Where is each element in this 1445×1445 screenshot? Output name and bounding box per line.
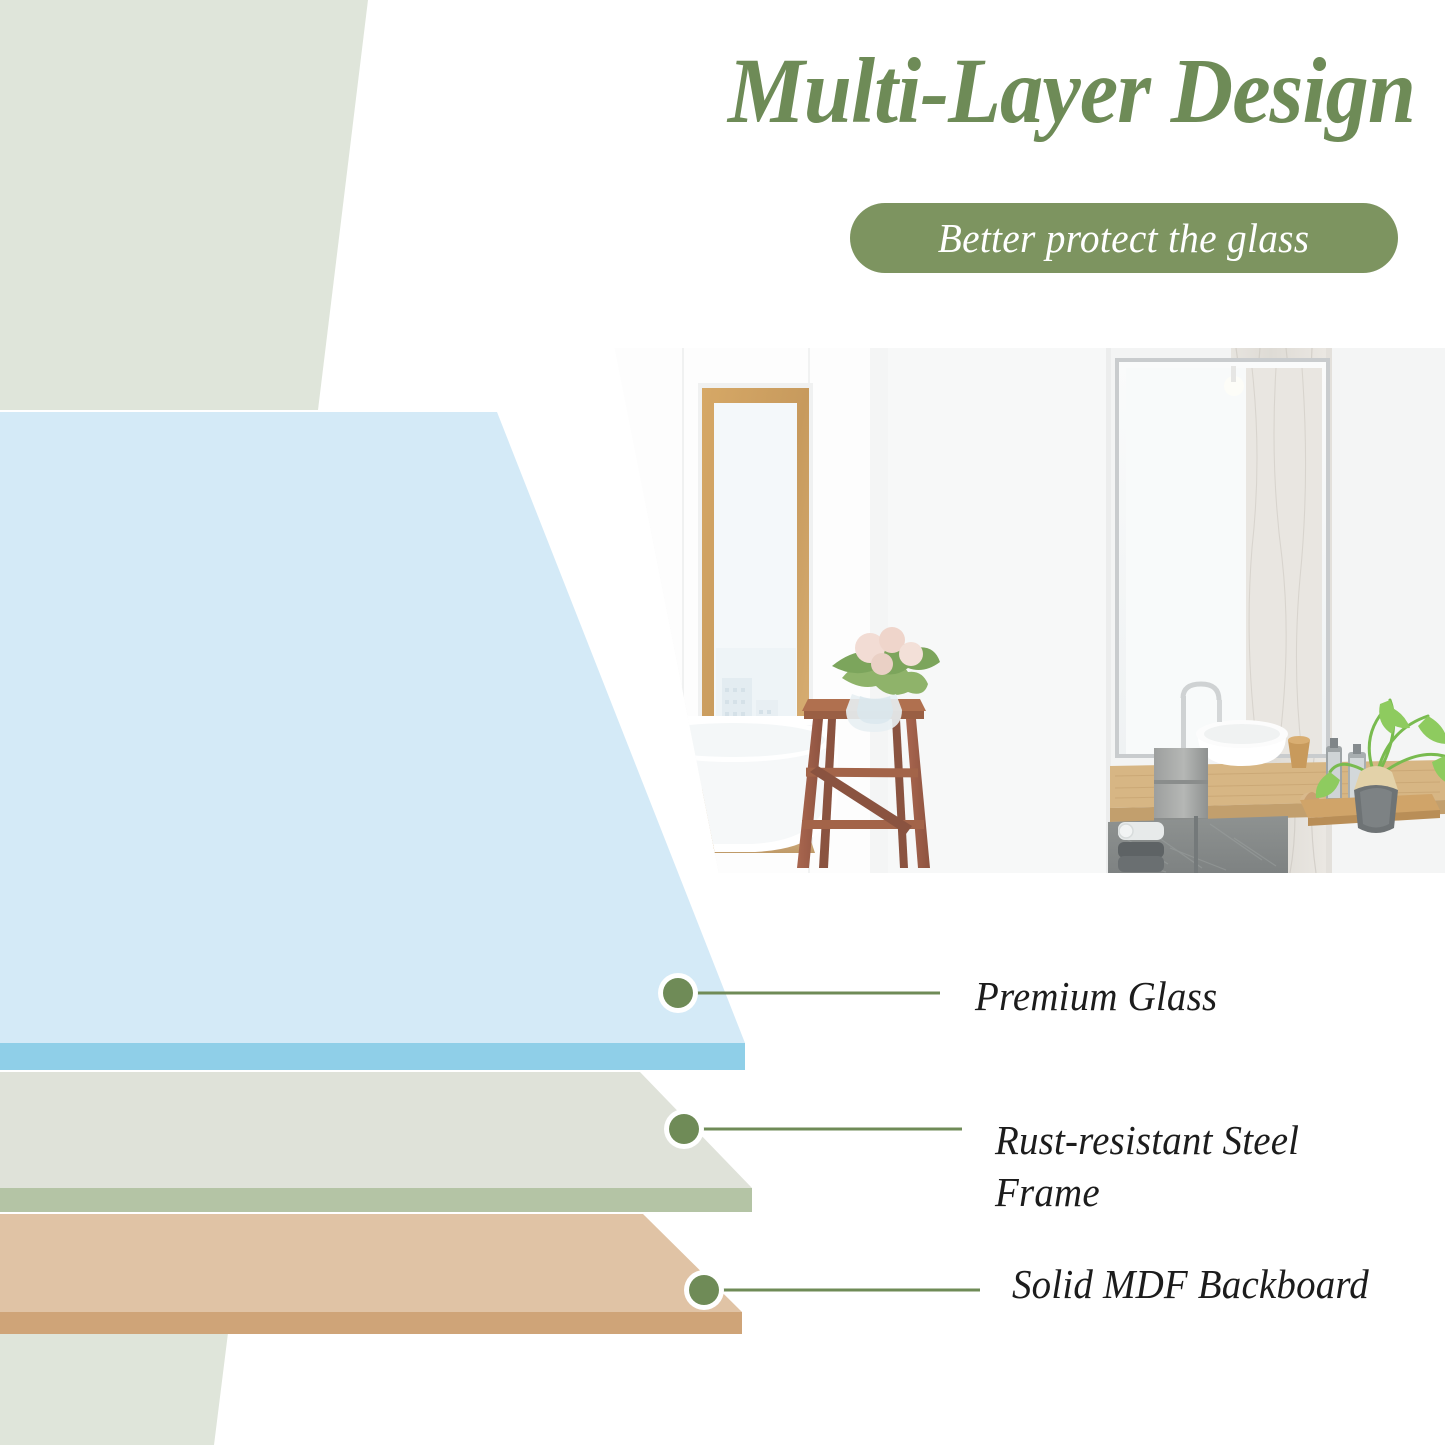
callout-label-premium-glass: Premium Glass [975, 970, 1393, 1022]
infographic-canvas: Multi-Layer Design Better protect the gl… [0, 0, 1445, 1445]
callout-leaders [0, 0, 1445, 1445]
callout-label-steel-frame: Rust-resistant Steel Frame [995, 1114, 1347, 1219]
callout-label-mdf-backboard: Solid MDF Backboard [1012, 1258, 1421, 1310]
